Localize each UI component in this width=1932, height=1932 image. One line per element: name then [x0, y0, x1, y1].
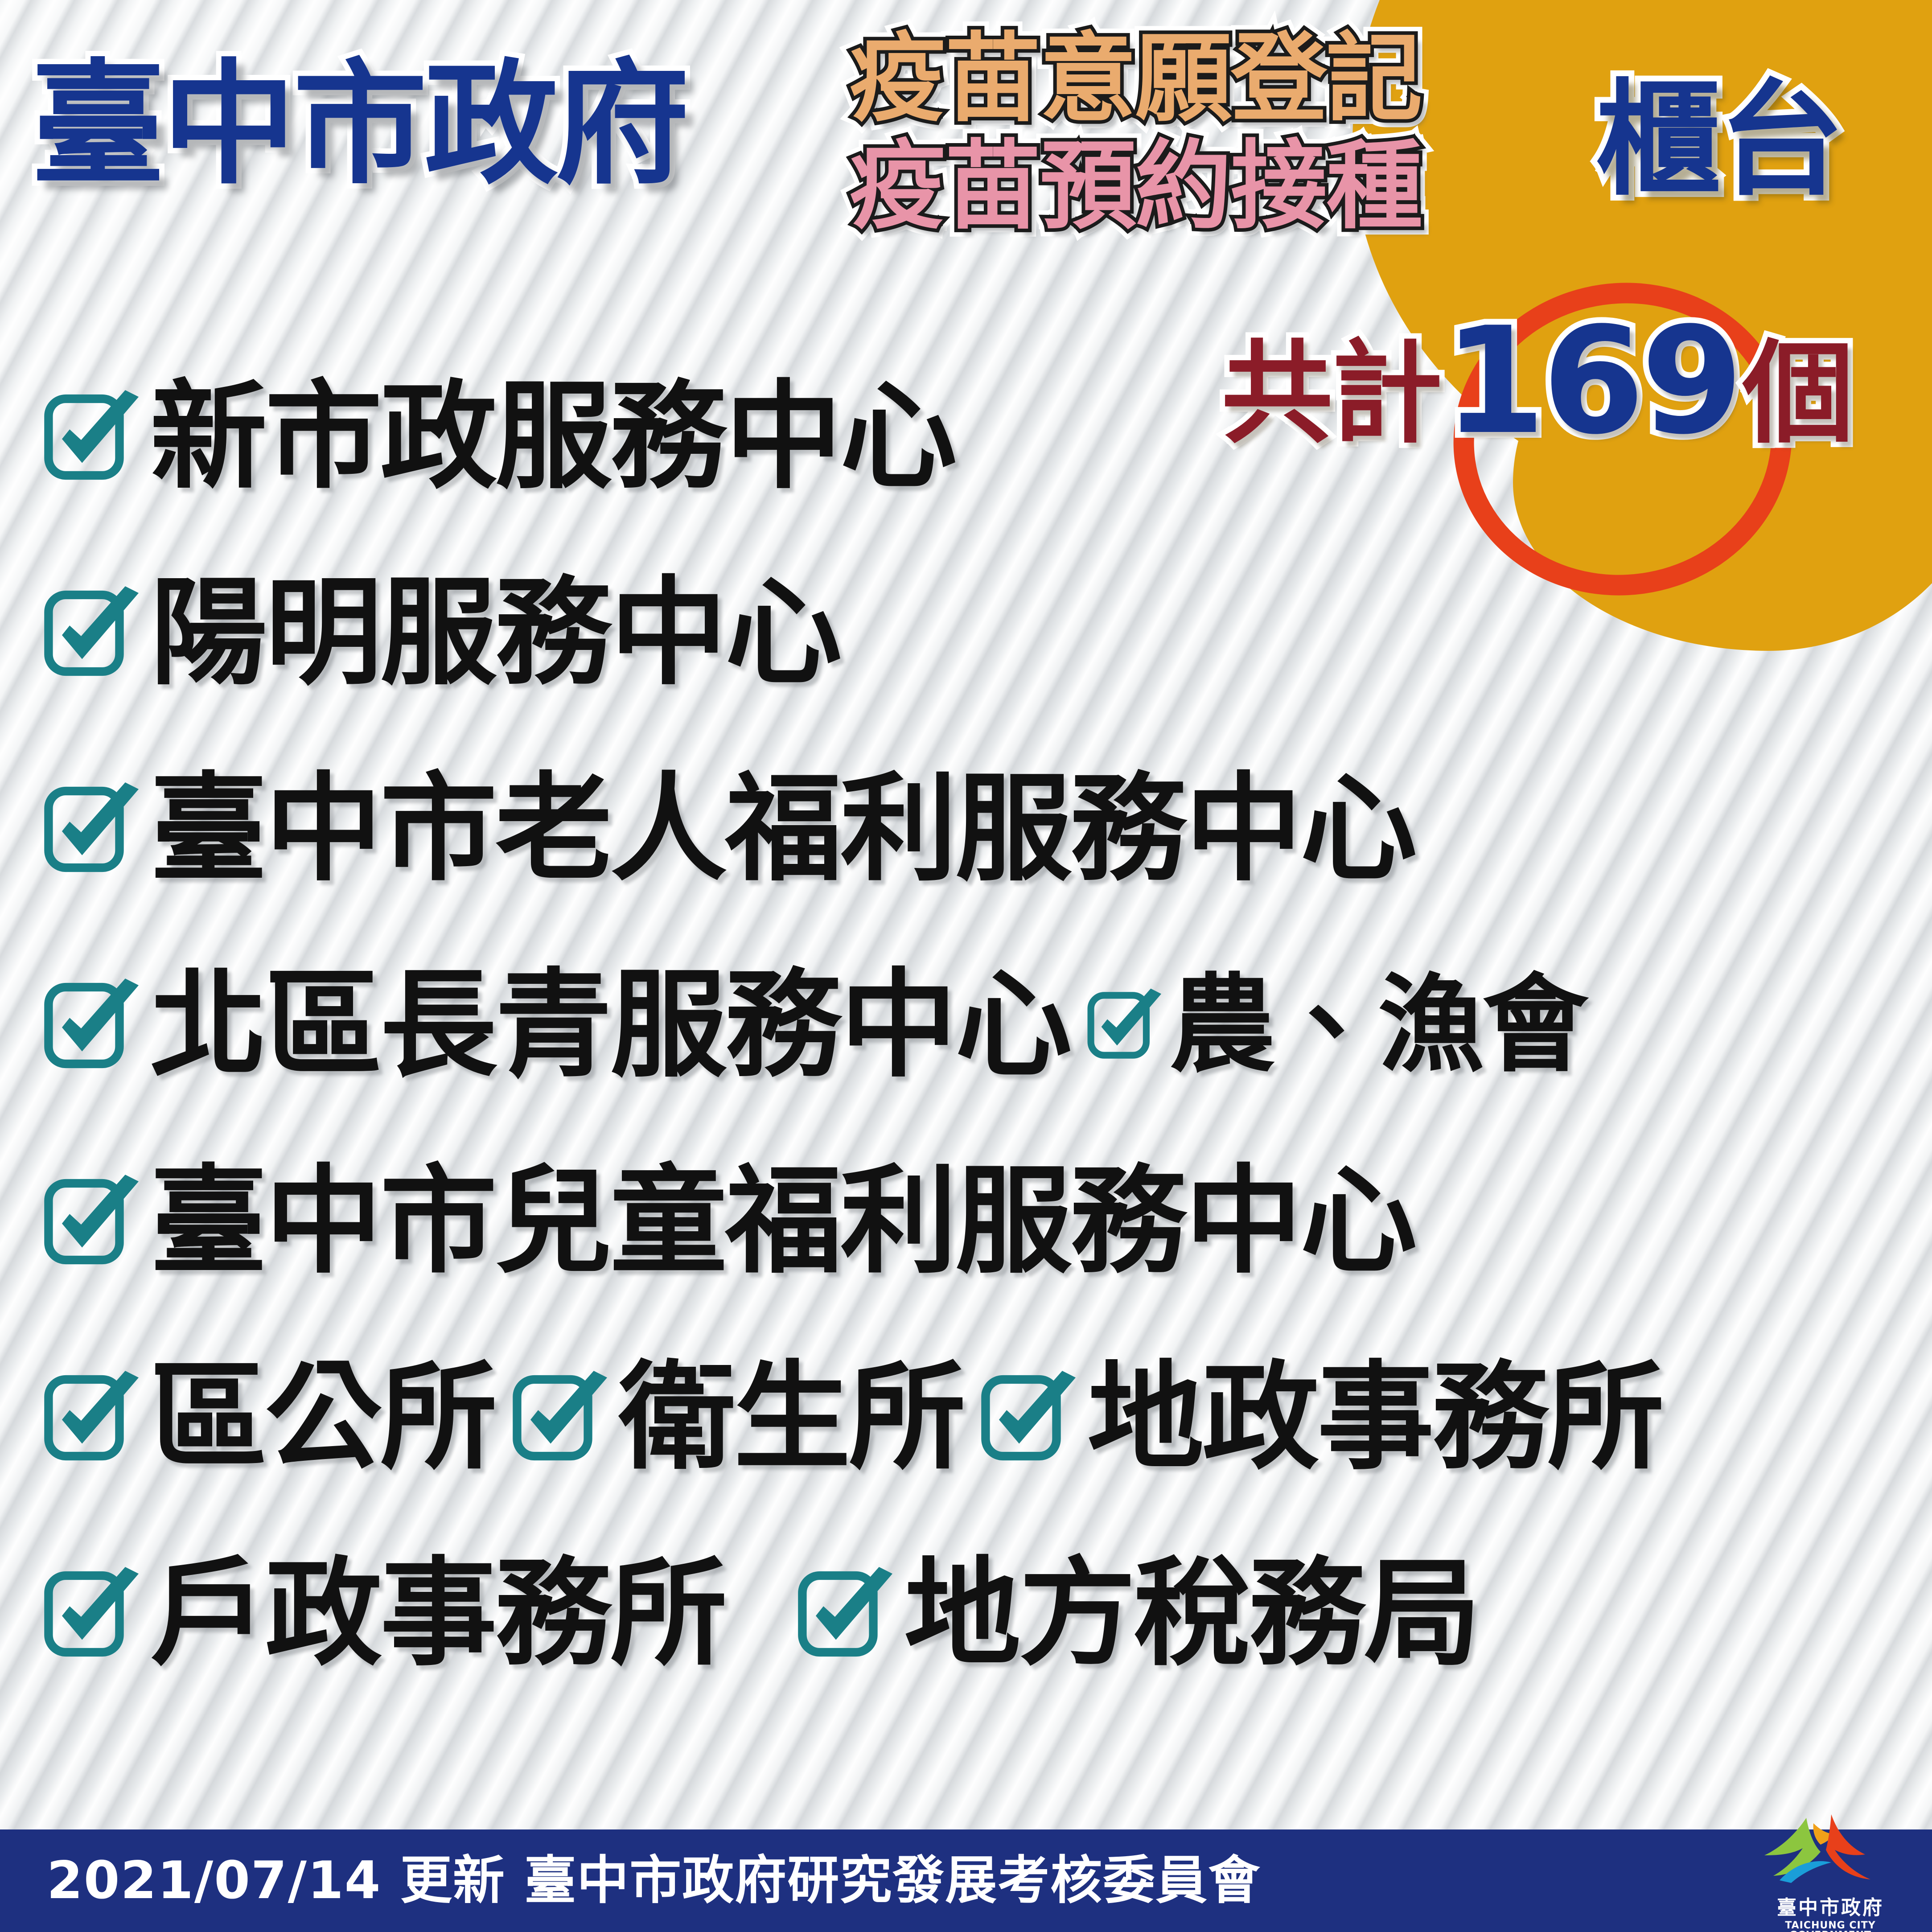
checklist-item[interactable]: 農、漁會: [1086, 972, 1587, 1078]
checklist-item-label: 北區長青服務中心: [150, 967, 1070, 1084]
checkbox-checked-icon[interactable]: [43, 1566, 139, 1662]
footer-bar: 2021/07/14 更新 臺中市政府研究發展考核委員會 臺中市政府 TAICH…: [0, 1829, 1932, 1932]
checklist-row: 新市政服務中心: [43, 339, 1897, 535]
checklist-item[interactable]: 地方稅務局: [797, 1555, 1479, 1672]
header: 臺中市政府 疫苗意願登記 疫苗意願登記 疫苗意願登記 疫苗預約接種 疫苗預約接種…: [0, 0, 1932, 312]
service-location-checklist: 新市政服務中心 陽明服務中心: [43, 339, 1897, 1712]
checklist-row: 臺中市老人福利服務中心: [43, 731, 1897, 927]
page-title-government: 臺中市政府: [31, 58, 686, 192]
checklist-item[interactable]: 臺中市老人福利服務中心: [43, 771, 1415, 888]
checklist-item[interactable]: 區公所: [43, 1359, 495, 1476]
checklist-item[interactable]: 北區長青服務中心: [43, 967, 1070, 1084]
checklist-item[interactable]: 陽明服務中心: [43, 575, 840, 691]
banner-line-registration: 疫苗意願登記 疫苗意願登記 疫苗意願登記: [849, 27, 1422, 131]
checklist-item-label: 衛生所: [619, 1359, 964, 1476]
checklist-item-label: 區公所: [150, 1359, 495, 1476]
checkbox-checked-icon[interactable]: [43, 978, 139, 1073]
checkbox-checked-icon[interactable]: [511, 1370, 607, 1466]
checklist-item-label: 地政事務所: [1087, 1359, 1662, 1476]
checklist-item[interactable]: 地政事務所: [980, 1359, 1662, 1476]
checkbox-checked-icon[interactable]: [1086, 988, 1161, 1063]
banner-line-appointment: 疫苗預約接種 疫苗預約接種 疫苗預約接種: [849, 134, 1422, 238]
checklist-item[interactable]: 新市政服務中心: [43, 378, 955, 495]
checklist-item[interactable]: 衛生所: [511, 1359, 964, 1476]
checklist-item-label: 陽明服務中心: [150, 575, 840, 691]
banner-subtitle-group: 疫苗意願登記 疫苗意願登記 疫苗意願登記 疫苗預約接種 疫苗預約接種 疫苗預約接…: [849, 27, 1422, 238]
checklist-row: 區公所 衛生所 地政事務所: [43, 1320, 1897, 1516]
page-title-counter: 櫃台: [1596, 78, 1842, 203]
logo-chinese-name: 臺中市政府: [1763, 1898, 1897, 1918]
checklist-item-label: 農、漁會: [1169, 972, 1587, 1078]
checklist-row: 陽明服務中心: [43, 535, 1897, 731]
checkbox-checked-icon[interactable]: [43, 1174, 139, 1270]
poster-canvas: 臺中市政府 疫苗意願登記 疫苗意願登記 疫苗意願登記 疫苗預約接種 疫苗預約接種…: [0, 0, 1932, 1932]
checklist-item[interactable]: 戶政事務所: [43, 1555, 725, 1672]
checklist-item-label: 臺中市兒童福利服務中心: [150, 1163, 1415, 1280]
checklist-item-label: 新市政服務中心: [150, 378, 955, 495]
footer-update-text: 2021/07/14 更新 臺中市政府研究發展考核委員會: [47, 1855, 1261, 1907]
checkbox-checked-icon[interactable]: [43, 585, 139, 681]
checkbox-checked-icon[interactable]: [980, 1370, 1076, 1466]
checkbox-checked-icon[interactable]: [43, 1370, 139, 1466]
checklist-item-label: 地方稅務局: [904, 1555, 1479, 1672]
checkbox-checked-icon[interactable]: [43, 389, 139, 485]
checklist-row: 戶政事務所 地方稅務局: [43, 1516, 1897, 1712]
checkbox-checked-icon[interactable]: [43, 781, 139, 877]
logo-english-name: TAICHUNG CITY GOVERNMENT: [1763, 1921, 1897, 1932]
checklist-item-label: 臺中市老人福利服務中心: [150, 771, 1415, 888]
checklist-row: 北區長青服務中心 農、漁會: [43, 927, 1897, 1123]
taichung-city-government-logo: 臺中市政府 TAICHUNG CITY GOVERNMENT: [1763, 1813, 1897, 1932]
checklist-row: 臺中市兒童福利服務中心: [43, 1123, 1897, 1320]
checkbox-checked-icon[interactable]: [797, 1566, 892, 1662]
checklist-item[interactable]: 臺中市兒童福利服務中心: [43, 1163, 1415, 1280]
checklist-item-label: 戶政事務所: [150, 1555, 725, 1672]
